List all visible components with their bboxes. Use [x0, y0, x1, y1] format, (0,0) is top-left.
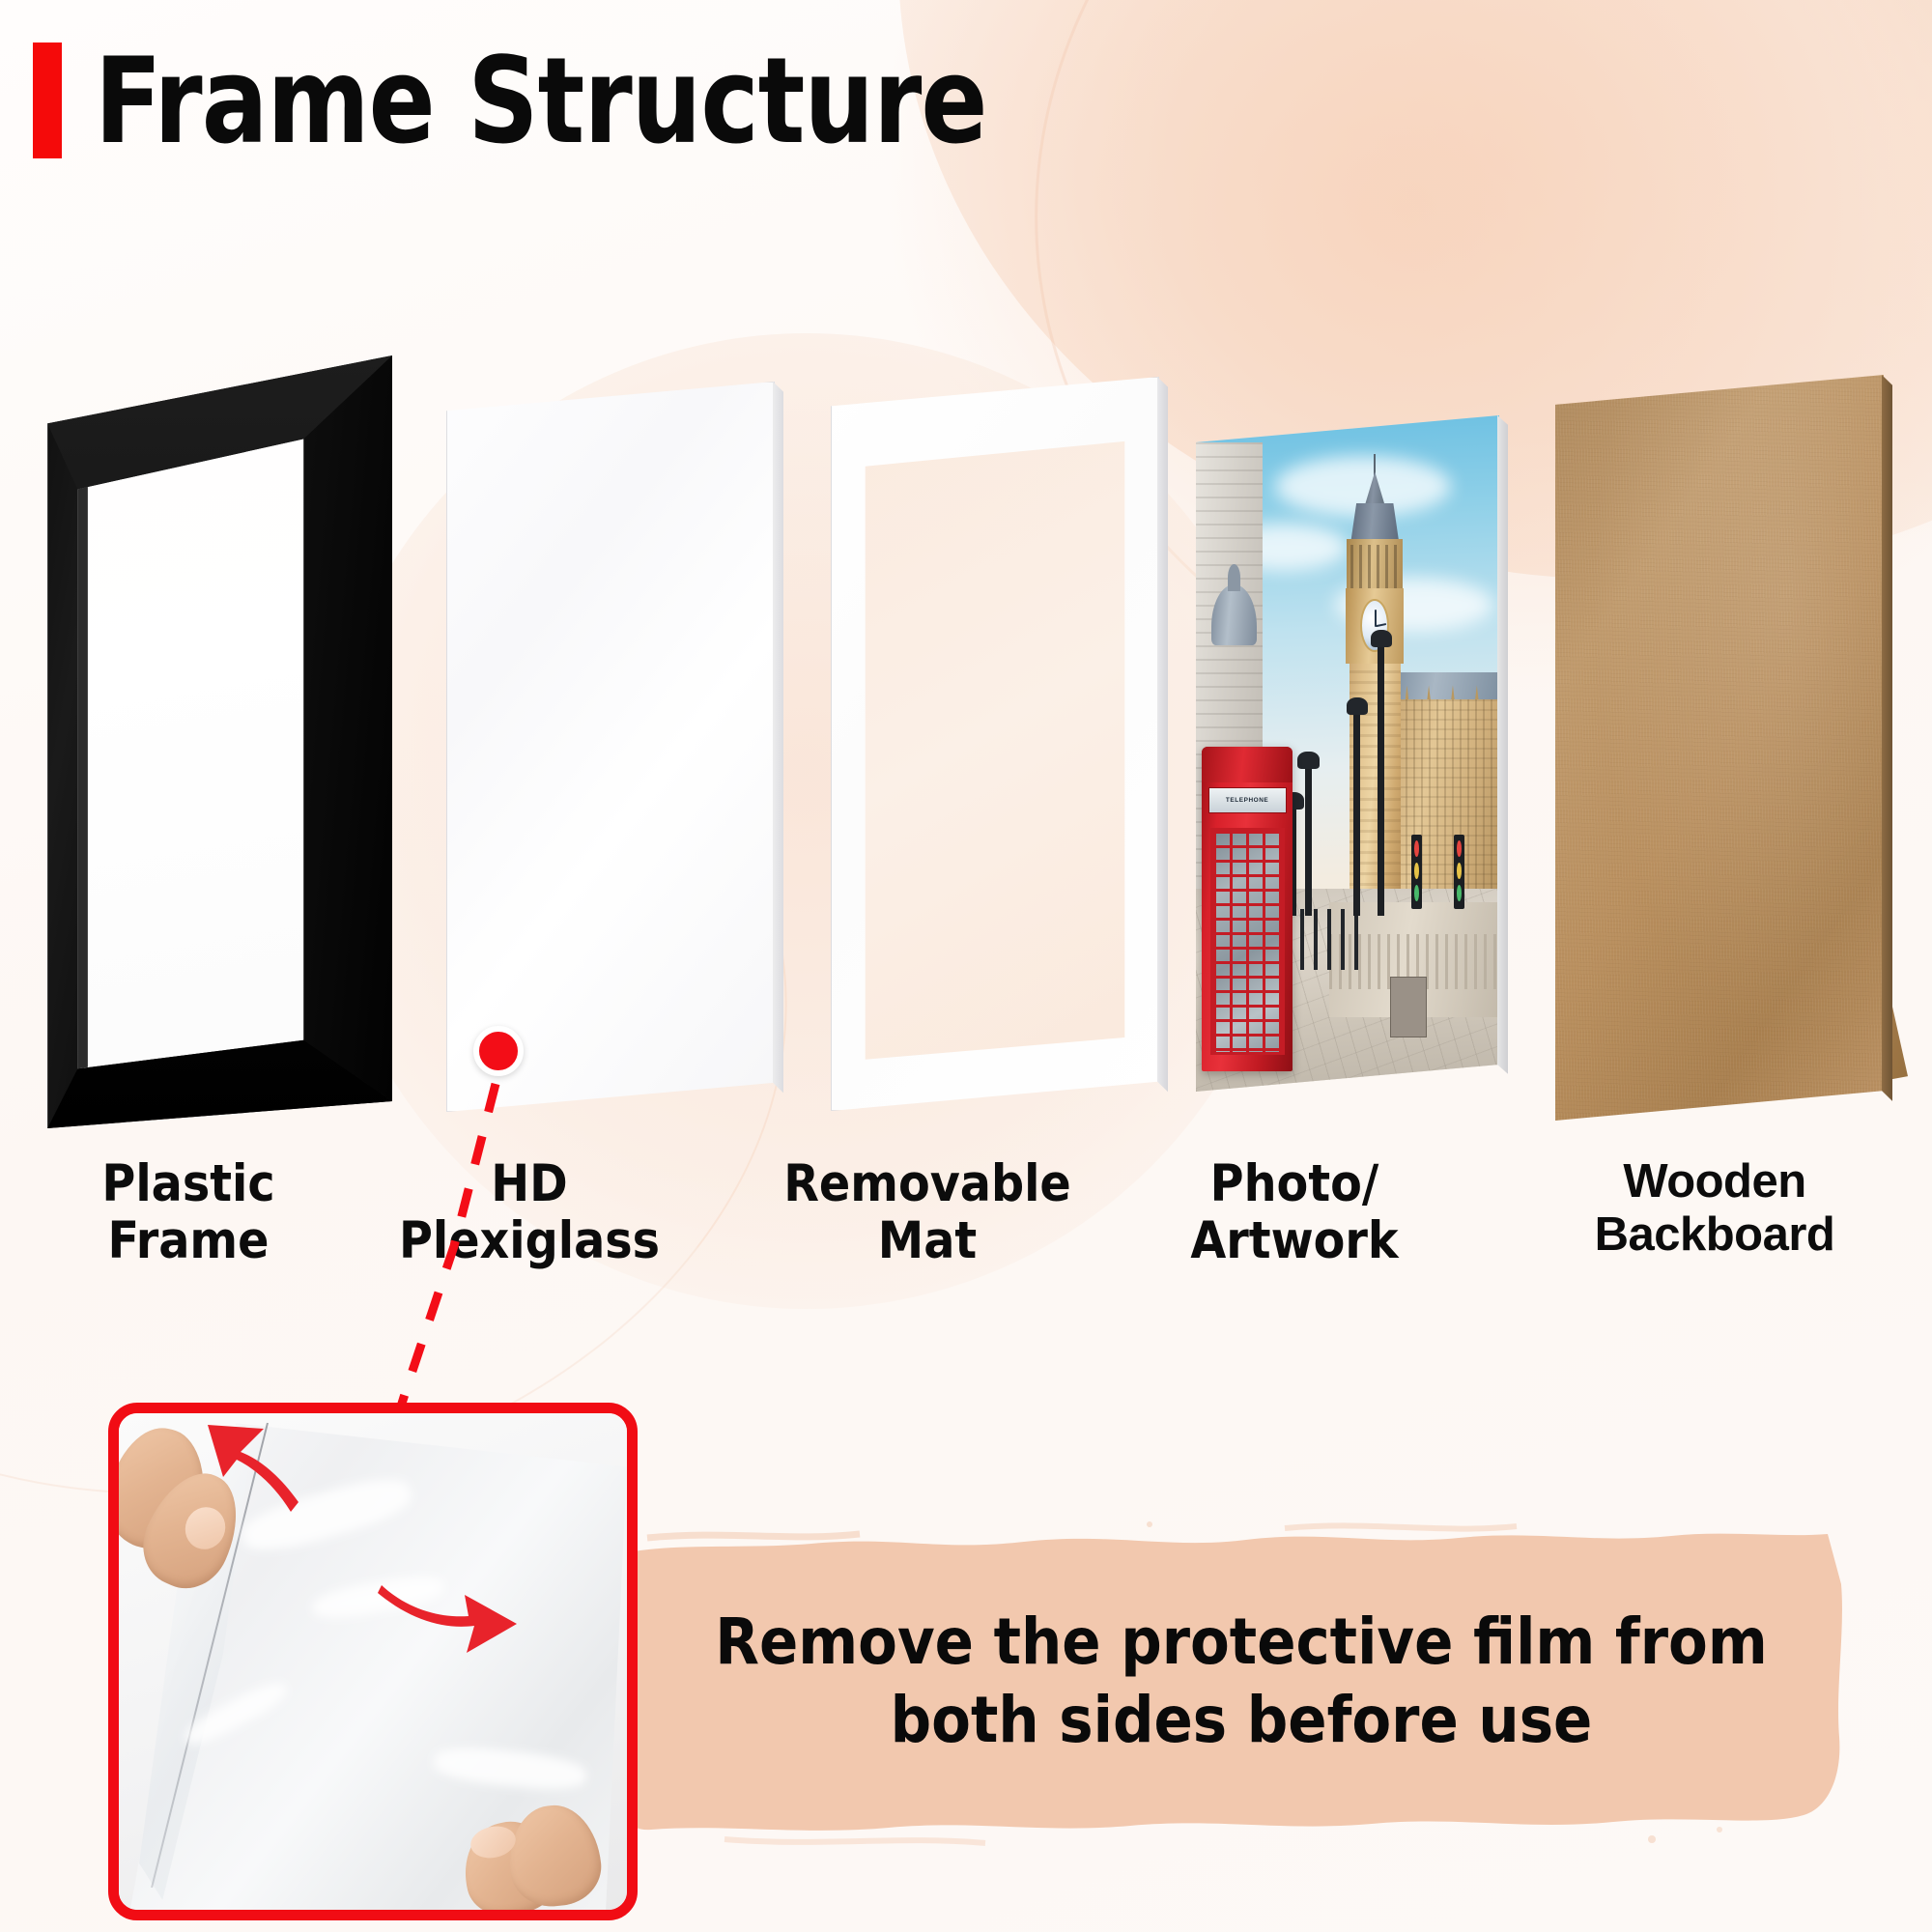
telephone-box-crown: [1202, 747, 1293, 782]
traffic-light: [1411, 835, 1422, 909]
component-wooden-backboard[interactable]: [1555, 375, 1884, 1121]
street-lamp: [1305, 767, 1312, 916]
houses-of-parliament: [1390, 699, 1499, 902]
peel-direction-arrows: [119, 1413, 627, 1910]
callout-marker-dot[interactable]: [473, 1026, 524, 1076]
photo-panel: TELEPHONE: [1196, 415, 1499, 1092]
backboard-edge: [1882, 375, 1892, 1121]
bollards: [1287, 909, 1366, 970]
film-peel-photo: [119, 1413, 627, 1910]
mat-edge: [1157, 377, 1168, 1111]
label-photo-artwork: Photo/ Artwork: [1121, 1155, 1468, 1270]
label-removable-mat: Removable Mat: [734, 1155, 1121, 1270]
arrow-up-left-icon: [208, 1425, 298, 1512]
component-removable-mat[interactable]: [831, 377, 1159, 1111]
street-lamp: [1353, 713, 1360, 916]
london-scene: TELEPHONE: [1196, 415, 1499, 1092]
traffic-light: [1454, 835, 1464, 909]
photo-edge: [1497, 415, 1508, 1092]
exploded-view: TELEPHONE: [0, 0, 1932, 1159]
label-wooden-backboard: Wooden Backboard: [1507, 1155, 1922, 1262]
backboard-panel: [1555, 375, 1884, 1121]
plexiglass-panel: [446, 382, 775, 1112]
info-board: [1390, 977, 1427, 1037]
component-labels: Plastic Frame HD Plexiglass Removable Ma…: [0, 1155, 1932, 1281]
street-lamp: [1378, 645, 1384, 916]
telephone-box-glazing: [1210, 828, 1285, 1055]
telephone-sign-label: TELEPHONE: [1226, 797, 1268, 803]
label-plastic-frame: Plastic Frame: [29, 1155, 348, 1270]
telephone-sign: TELEPHONE: [1208, 787, 1287, 813]
component-hd-plexiglass[interactable]: [446, 382, 775, 1112]
film-removal-detail-box[interactable]: [108, 1403, 638, 1920]
mat-window-cutout: [831, 377, 1159, 1111]
component-plastic-frame[interactable]: [15, 355, 392, 1128]
component-photo-artwork[interactable]: TELEPHONE: [1196, 415, 1499, 1092]
red-telephone-box: TELEPHONE: [1202, 747, 1293, 1071]
dome-finial: [1228, 564, 1240, 591]
arrow-right-icon: [378, 1585, 517, 1653]
plexiglass-edge: [773, 382, 783, 1112]
spire-base: [1350, 503, 1399, 544]
label-hd-plexiglass: HD Plexiglass: [365, 1155, 694, 1270]
instruction-caption: Remove the protective film from both sid…: [628, 1604, 1855, 1759]
